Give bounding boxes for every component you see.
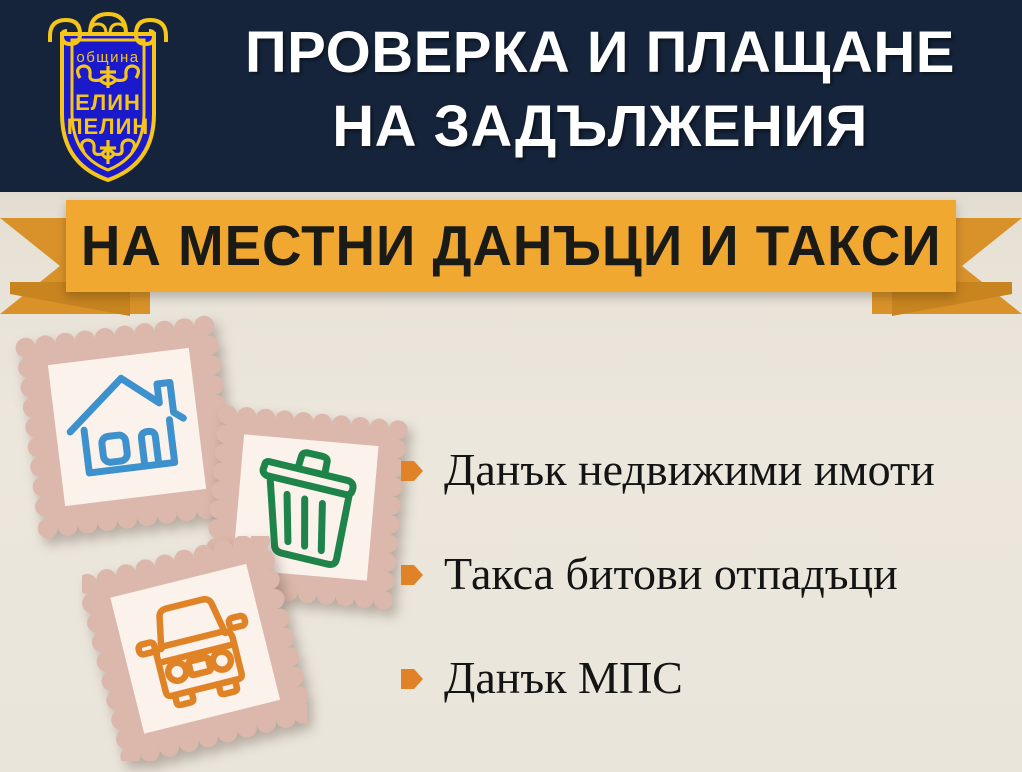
title-line-1: ПРОВЕРКА И ПЛАЩАНЕ	[245, 20, 955, 85]
list-item-label: Данък МПС	[444, 653, 683, 704]
stamp-card-car	[82, 536, 307, 761]
arrow-right-bullet-icon	[400, 562, 424, 588]
svg-text:ПЕЛИН: ПЕЛИН	[67, 114, 150, 139]
arrow-right-bullet-icon	[400, 458, 424, 484]
tax-type-list: Данък недвижими имоти Такса битови отпад…	[400, 418, 1012, 730]
ribbon-label: НА МЕСТНИ ДАНЪЦИ И ТАКСИ	[81, 213, 942, 279]
list-item[interactable]: Данък недвижими имоти	[400, 418, 1012, 522]
page-title: ПРОВЕРКА И ПЛАЩАНЕ НА ЗАДЪЛЖЕНИЯ	[190, 16, 1010, 164]
arrow-right-bullet-icon	[400, 666, 424, 692]
poster-canvas: община ЕЛИН ПЕЛИН	[0, 0, 1022, 772]
stamp-card-group	[0, 300, 420, 772]
title-line-2: НА ЗАДЪЛЖЕНИЯ	[190, 90, 1010, 164]
header-banner: община ЕЛИН ПЕЛИН	[0, 0, 1022, 192]
list-item-label: Такса битови отпадъци	[444, 549, 898, 600]
svg-text:ЕЛИН: ЕЛИН	[75, 90, 141, 115]
ribbon-main-panel: НА МЕСТНИ ДАНЪЦИ И ТАКСИ	[66, 200, 956, 292]
list-item[interactable]: Данък МПС	[400, 626, 1012, 730]
svg-text:община: община	[76, 49, 139, 66]
list-item-label: Данък недвижими имоти	[444, 445, 935, 496]
coat-of-arms-icon: община ЕЛИН ПЕЛИН	[28, 6, 188, 186]
subtitle-ribbon: НА МЕСТНИ ДАНЪЦИ И ТАКСИ	[0, 196, 1022, 314]
list-item[interactable]: Такса битови отпадъци	[400, 522, 1012, 626]
